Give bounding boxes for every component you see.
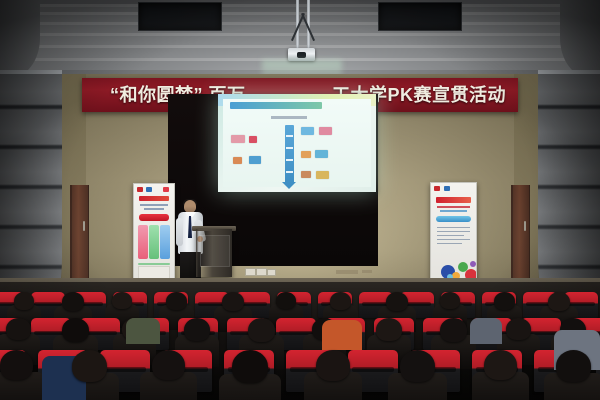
presentation-slide xyxy=(223,99,371,187)
slide-flow-arrow xyxy=(285,125,294,183)
rollup-right-logos xyxy=(434,186,473,192)
audience-member-head xyxy=(166,292,187,310)
audience-member-head xyxy=(548,292,570,311)
slide-chip xyxy=(249,136,257,143)
rollup-dot xyxy=(470,261,476,267)
audience-member-head xyxy=(400,350,435,382)
wall-marking xyxy=(362,270,372,273)
door-left[interactable] xyxy=(70,185,89,293)
wall-power-outlet xyxy=(256,268,267,276)
seated-audience xyxy=(0,282,600,400)
audience-member-head xyxy=(62,318,89,342)
audience-member-head xyxy=(276,292,296,309)
audience-member-head xyxy=(376,318,402,341)
presenter-arm-left xyxy=(176,218,183,246)
projection-screen xyxy=(218,94,376,192)
slide-subtitle-bar xyxy=(271,116,307,119)
audience-member-head xyxy=(0,350,33,380)
lectern xyxy=(196,229,232,277)
audience-member-head xyxy=(330,292,351,310)
audience-member-head xyxy=(184,318,210,341)
audience-member-head xyxy=(484,350,517,380)
rollup-banner-left xyxy=(133,183,175,289)
audience-member-head xyxy=(222,292,244,311)
slide-title-bar xyxy=(230,102,322,109)
audience-member-head xyxy=(440,292,460,309)
rollup-left-pill xyxy=(139,214,169,221)
audience-member-head xyxy=(316,350,350,381)
audience-member-head xyxy=(232,350,268,383)
door-handle-icon xyxy=(83,221,85,231)
slide-chip xyxy=(319,127,332,135)
audience-member-head xyxy=(556,350,591,382)
audience-member-head xyxy=(152,350,185,380)
rollup-left-headline xyxy=(139,196,169,201)
slide-chip xyxy=(301,127,314,135)
wall-marking xyxy=(336,270,358,274)
audience-member-head xyxy=(248,318,275,342)
rollup-right-pill xyxy=(436,216,471,222)
door-right[interactable] xyxy=(511,185,530,293)
audience-member-head xyxy=(14,292,34,310)
ceiling-access-panel-right xyxy=(378,2,462,31)
ceiling-projector xyxy=(288,48,315,61)
slide-chip xyxy=(301,171,311,178)
audience-member-clothing xyxy=(126,318,160,344)
audience-member-clothing xyxy=(470,318,502,344)
audience-member-head xyxy=(112,292,132,309)
audience-member-head xyxy=(72,350,107,382)
projector-lens-icon xyxy=(297,52,306,58)
audience-member-head xyxy=(440,318,467,342)
wall-power-outlet xyxy=(267,269,276,276)
door-handle-icon xyxy=(524,221,526,231)
audience-member-head xyxy=(494,292,515,310)
audience-member-clothing xyxy=(322,320,362,350)
slide-chip xyxy=(249,156,261,164)
audience-member-head xyxy=(6,318,31,340)
slide-chip xyxy=(301,151,311,158)
rollup-right-headline xyxy=(436,197,471,203)
slide-chip xyxy=(315,150,328,158)
wall-power-outlet xyxy=(245,268,256,276)
lectern-front-panel xyxy=(200,235,230,267)
ceiling-access-panel-left xyxy=(138,2,222,31)
rollup-left-logos xyxy=(137,187,171,193)
slide-chip xyxy=(316,171,329,179)
slide-chip xyxy=(233,157,242,164)
audience-member-head xyxy=(506,318,531,340)
audience-member-head xyxy=(386,292,408,311)
audience-member-head xyxy=(62,292,84,311)
projector-mount-bracket xyxy=(290,6,316,52)
slide-chip xyxy=(231,135,245,143)
auditorium-photo: “和你圆梦” 百万 工大学PK赛宣贯活动 xyxy=(0,0,600,400)
